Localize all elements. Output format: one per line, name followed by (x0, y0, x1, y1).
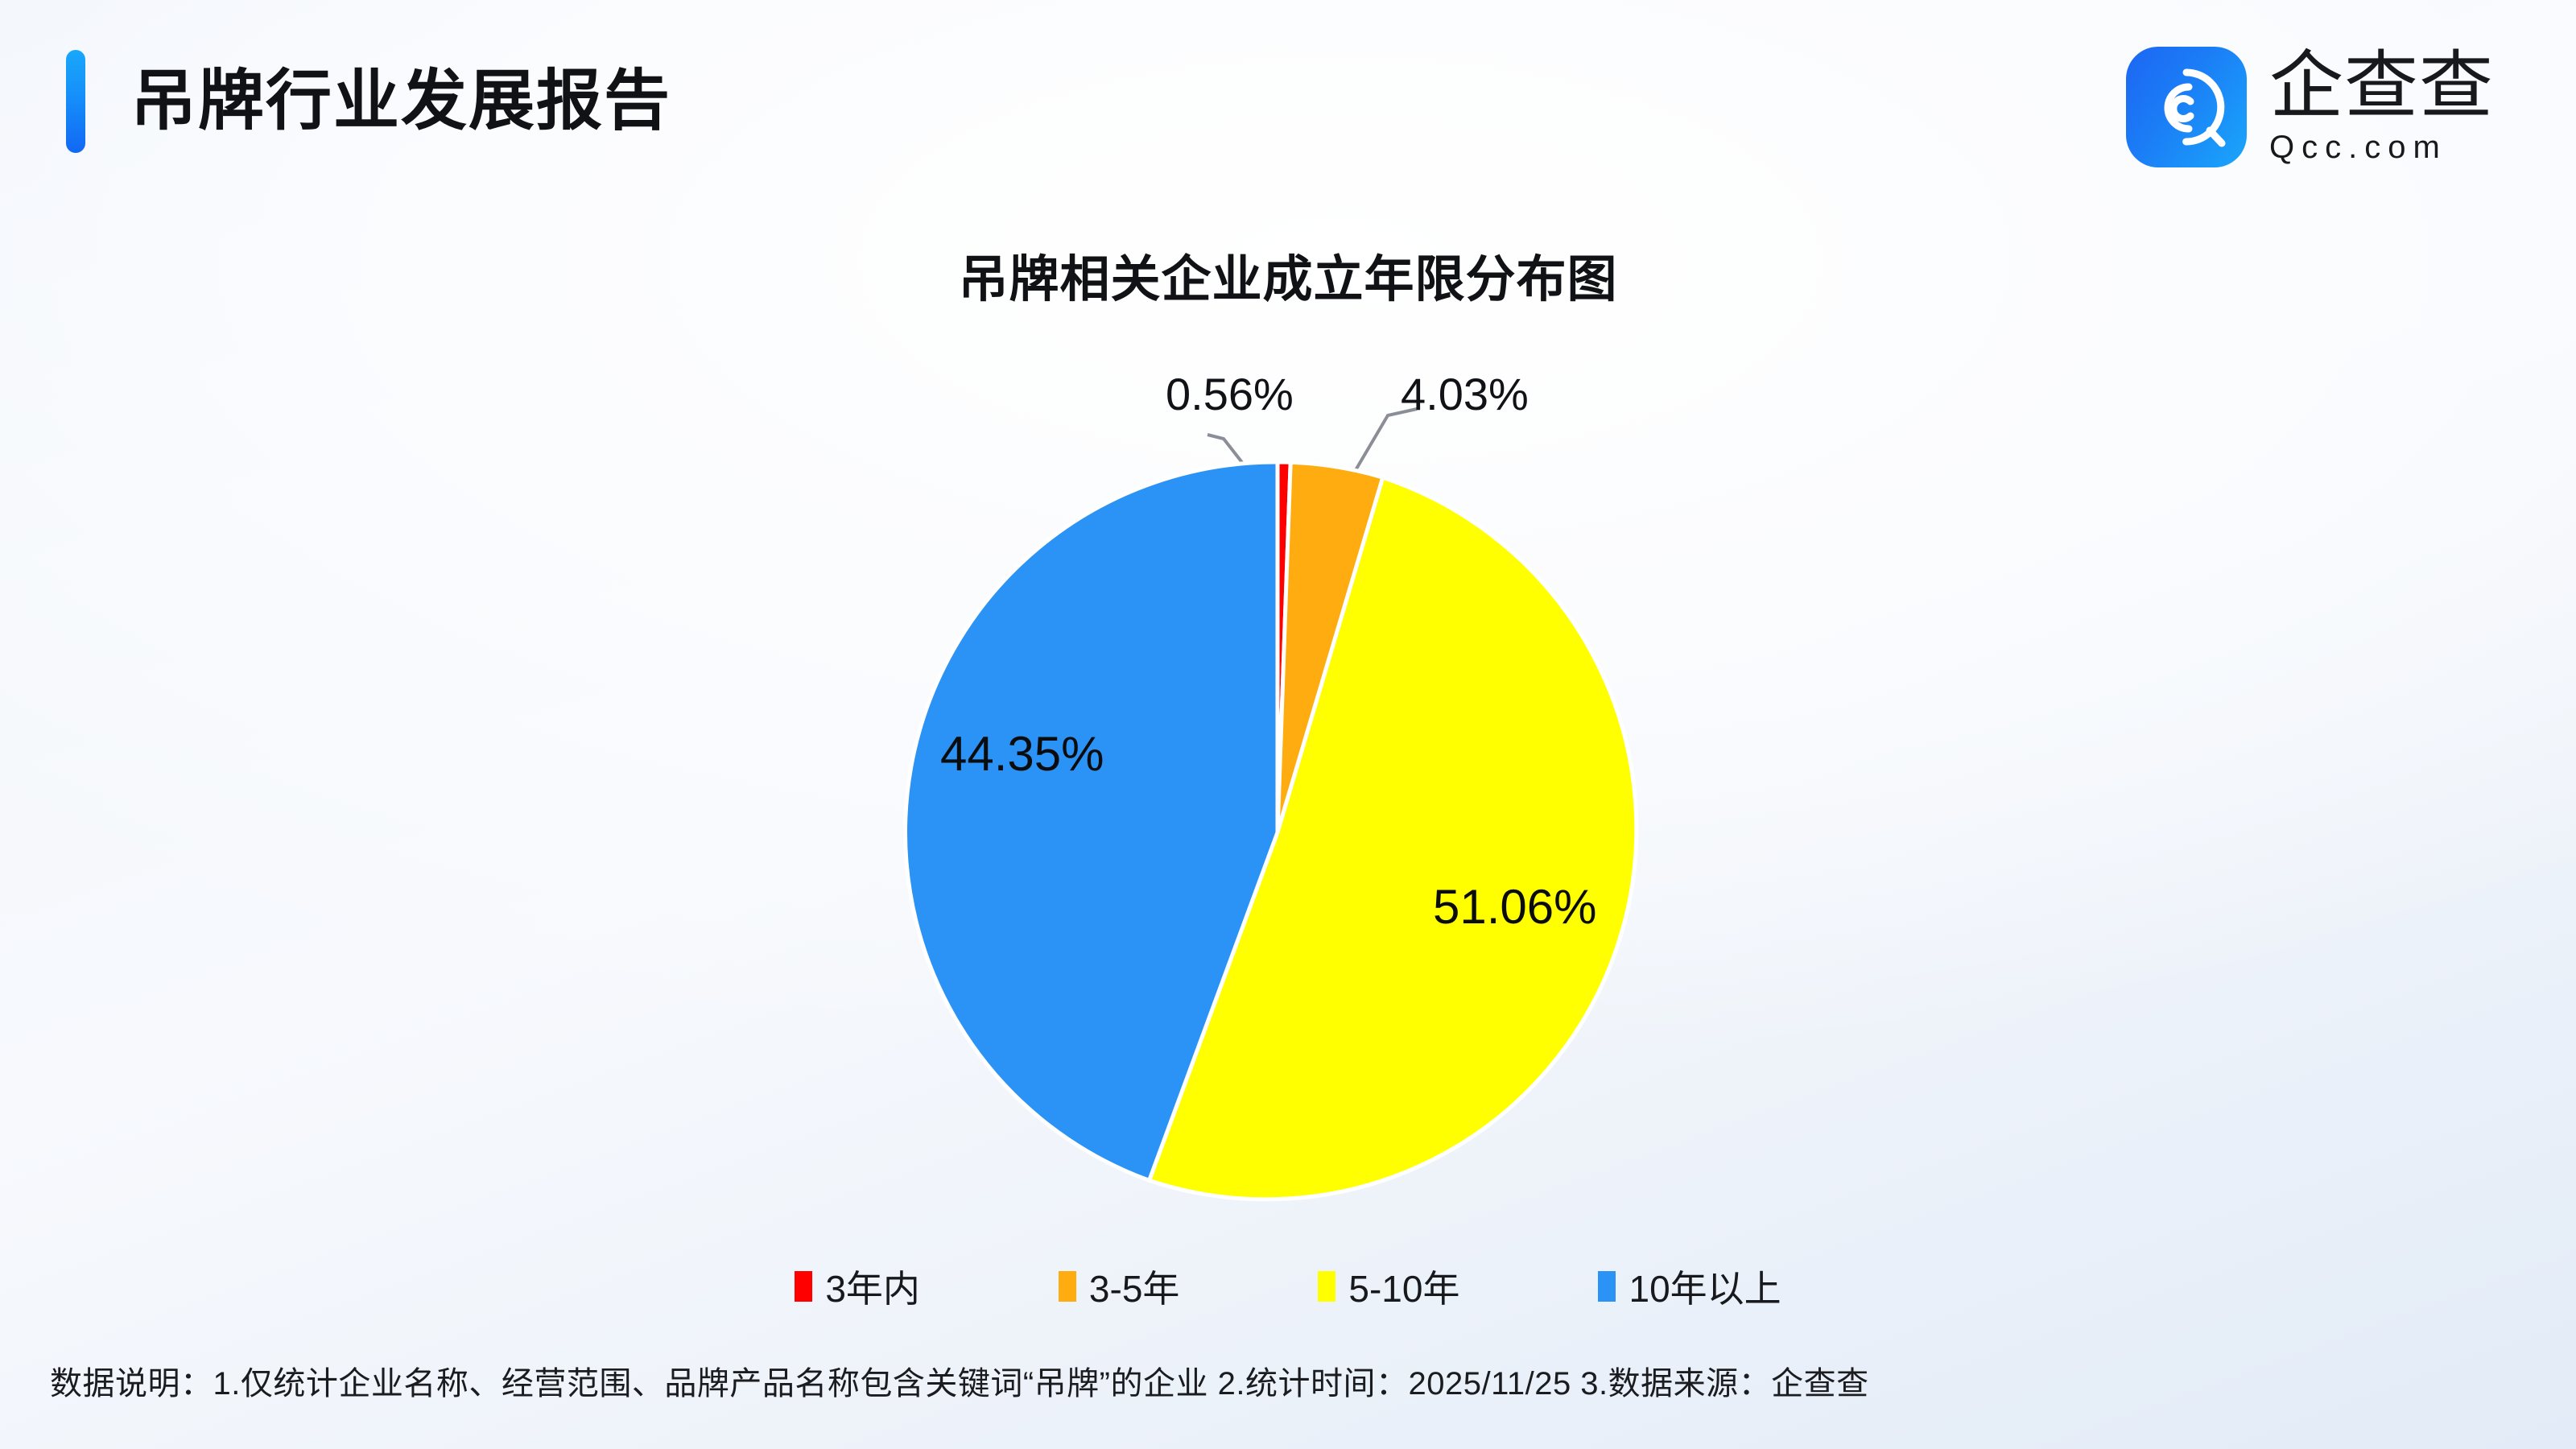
legend-label: 3-5年 (1089, 1260, 1179, 1313)
legend-item-510nian[interactable]: 5-10年 (1318, 1260, 1459, 1313)
pie-chart: 0.56% 4.03% 44.35% 51.06% (0, 0, 2576, 1449)
legend-item-3nian[interactable]: 3年内 (795, 1260, 920, 1313)
legend-item-10nianyishang[interactable]: 10年以上 (1598, 1260, 1781, 1313)
legend-swatch-icon (1598, 1271, 1616, 1302)
pie-label-510nian: 51.06% (1433, 879, 1597, 935)
legend-label: 5-10年 (1348, 1260, 1459, 1313)
legend-label: 10年以上 (1629, 1260, 1781, 1313)
data-note: 数据说明：1.仅统计企业名称、经营范围、品牌产品名称包含关键词“吊牌”的企业 2… (50, 1357, 1869, 1404)
pie-callout-35nian: 4.03% (1401, 368, 1529, 420)
legend-item-35nian[interactable]: 3-5年 (1059, 1260, 1179, 1313)
pie-label-10nianyishang: 44.35% (940, 726, 1104, 782)
report-page: 吊牌行业发展报告 企查查 Qcc.com 吊牌相关企业成立年限分布图 (0, 0, 2576, 1449)
chart-legend: 3年内 3-5年 5-10年 10年以上 (0, 1260, 2576, 1313)
legend-swatch-icon (795, 1271, 812, 1302)
legend-label: 3年内 (825, 1260, 920, 1313)
pie-slices (906, 462, 1637, 1199)
pie-callout-3nian: 0.56% (1166, 368, 1294, 420)
legend-swatch-icon (1318, 1271, 1335, 1302)
legend-swatch-icon (1059, 1271, 1076, 1302)
leader-line-3nian (1207, 435, 1244, 464)
